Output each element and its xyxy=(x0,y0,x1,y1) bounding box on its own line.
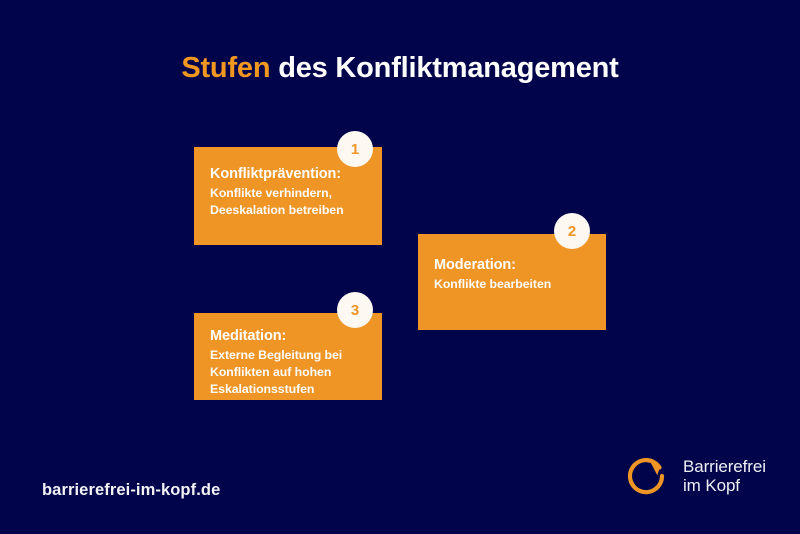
site-url-label: barrierefrei-im-kopf.de xyxy=(42,481,220,500)
step-card-3-line-1: Externe Begleitung bei xyxy=(210,347,366,364)
step-badge-1: 1 xyxy=(337,131,373,167)
page-title: Stufen des Konfliktmanagement xyxy=(0,52,800,85)
step-card-2-line-1: Konflikte bearbeiten xyxy=(434,276,590,293)
step-card-2-heading: Moderation: xyxy=(434,256,590,275)
step-card-2: Moderation: Konflikte bearbeiten xyxy=(418,234,606,330)
slide-canvas: Stufen des Konfliktmanagement Konfliktpr… xyxy=(0,0,800,534)
brand-logo-text: Barrierefrei im Kopf xyxy=(683,457,766,495)
step-card-1-heading: Konfliktprävention: xyxy=(210,165,366,184)
step-badge-3: 3 xyxy=(337,292,373,328)
page-title-accent: Stufen xyxy=(181,52,270,84)
brand-logo: Barrierefrei im Kopf xyxy=(624,452,766,500)
step-card-3-heading: Meditation: xyxy=(210,327,366,346)
step-badge-2: 2 xyxy=(554,213,590,249)
step-card-3-line-2: Konflikten auf hohen xyxy=(210,364,366,381)
brand-logo-line-1: Barrierefrei xyxy=(683,457,766,476)
brand-logo-line-2: im Kopf xyxy=(683,476,766,495)
step-card-1-line-2: Deeskalation betreiben xyxy=(210,202,366,219)
step-card-3-line-3: Eskalationsstufen xyxy=(210,381,366,398)
circular-arrow-icon xyxy=(624,452,672,500)
page-title-rest: des Konfliktmanagement xyxy=(270,52,618,84)
step-card-1-line-1: Konflikte verhindern, xyxy=(210,185,366,202)
